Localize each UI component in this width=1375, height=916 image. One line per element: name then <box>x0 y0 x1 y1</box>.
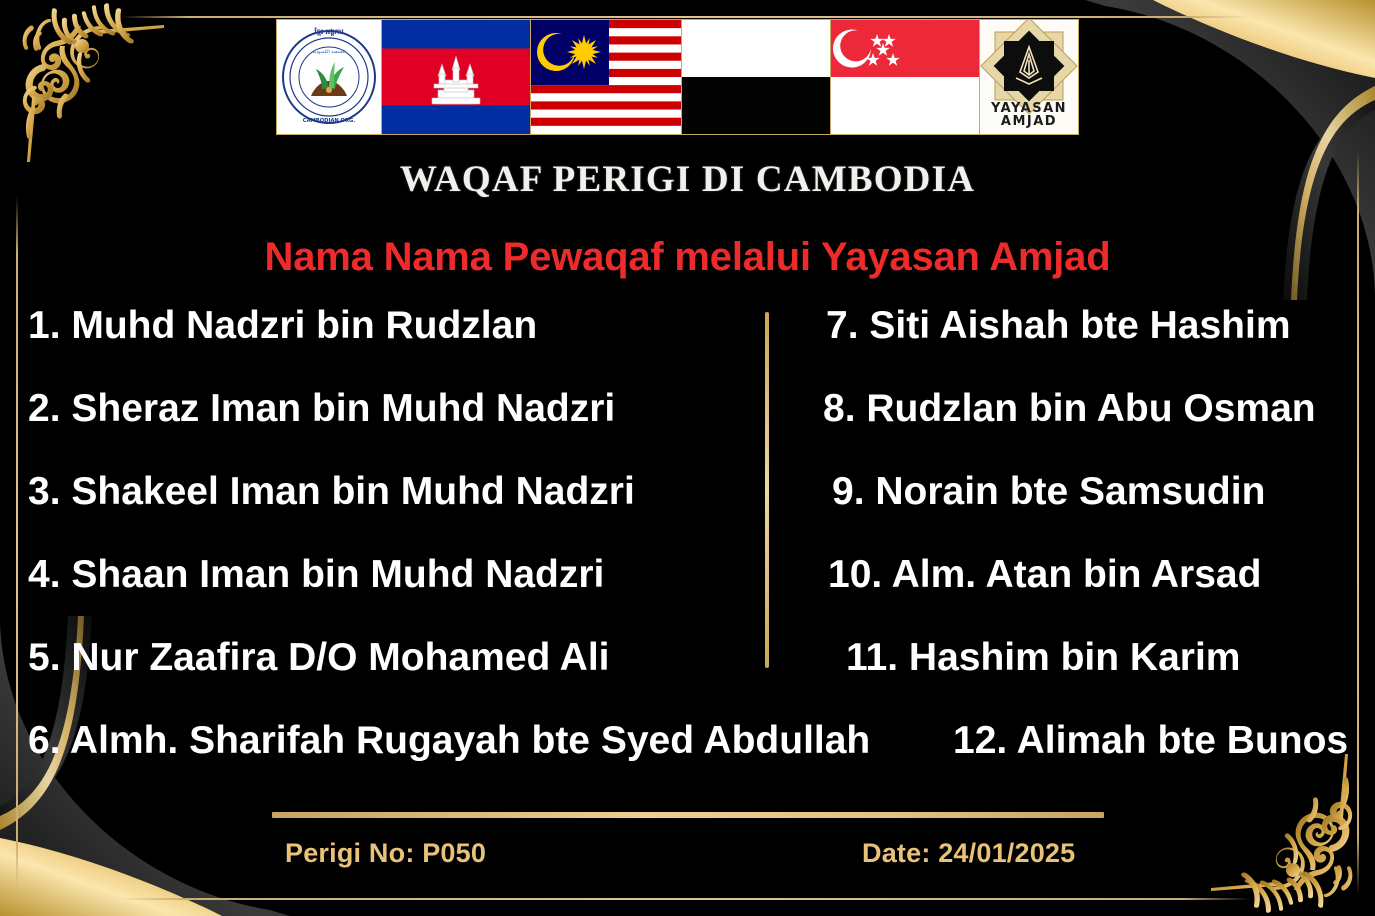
page-title: WAQAF PERIGI DI CAMBODIA <box>0 158 1375 201</box>
amjad-wordmark-line1: YAYASAN <box>980 102 1078 115</box>
logo-flag-strip: ខ្មែរ អង្គការ CAMBODIAN ORG. الجمعية الك… <box>276 19 1079 135</box>
white-black-flag <box>682 20 830 134</box>
ataa-cambodian-organization-logo: ខ្មែរ អង្គការ CAMBODIAN ORG. الجمعية الك… <box>277 20 381 134</box>
amjad-wordmark-line2: AMJAD <box>980 115 1078 128</box>
footer-divider-rule <box>272 812 1104 818</box>
list-item: 7. Siti Aishah bte Hashim <box>826 306 1291 345</box>
cambodia-flag <box>382 20 530 134</box>
list-item: 4. Shaan Iman bin Muhd Nadzri <box>28 555 604 594</box>
yayasan-amjad-wordmark: YAYASAN AMJAD <box>980 102 1078 129</box>
frame-line-top <box>120 16 1250 18</box>
list-item: 3. Shakeel Iman bin Muhd Nadzri <box>28 472 635 511</box>
page-subtitle: Nama Nama Pewaqaf melalui Yayasan Amjad <box>0 235 1375 280</box>
list-item: 6. Almh. Sharifah Rugayah bte Syed Abdul… <box>28 721 870 760</box>
svg-text:CAMBODIAN ORG.: CAMBODIAN ORG. <box>303 118 355 124</box>
poster-date: Date: 24/01/2025 <box>862 838 1075 869</box>
frame-line-left <box>16 196 18 896</box>
list-item: 1. Muhd Nadzri bin Rudzlan <box>28 306 537 345</box>
list-item: 5. Nur Zaafira D/O Mohamed Ali <box>28 638 610 677</box>
list-item: 10. Alm. Atan bin Arsad <box>828 555 1261 594</box>
frame-line-bottom <box>120 898 1250 900</box>
malaysia-flag <box>531 20 681 134</box>
donor-names-list: 1. Muhd Nadzri bin Rudzlan 2. Sheraz Ima… <box>28 296 1348 776</box>
list-item: 12. Alimah bte Bunos <box>953 721 1348 760</box>
list-item: 2. Sheraz Iman bin Muhd Nadzri <box>28 389 615 428</box>
perigi-number: Perigi No: P050 <box>285 838 486 869</box>
svg-text:الجمعية الكمبودية: الجمعية الكمبودية <box>312 49 345 55</box>
svg-text:ខ្មែរ អង្គការ: ខ្មែរ អង្គការ <box>313 27 344 36</box>
list-item: 9. Norain bte Samsudin <box>832 472 1265 511</box>
list-item: 11. Hashim bin Karim <box>846 638 1240 677</box>
list-item: 8. Rudzlan bin Abu Osman <box>823 389 1316 428</box>
flourish-ornament-top-left <box>4 2 174 172</box>
waqaf-poster: ខ្មែរ អង្គការ CAMBODIAN ORG. الجمعية الك… <box>0 0 1375 916</box>
yayasan-amjad-logo: YAYASAN AMJAD <box>980 20 1078 134</box>
singapore-flag <box>831 20 979 134</box>
